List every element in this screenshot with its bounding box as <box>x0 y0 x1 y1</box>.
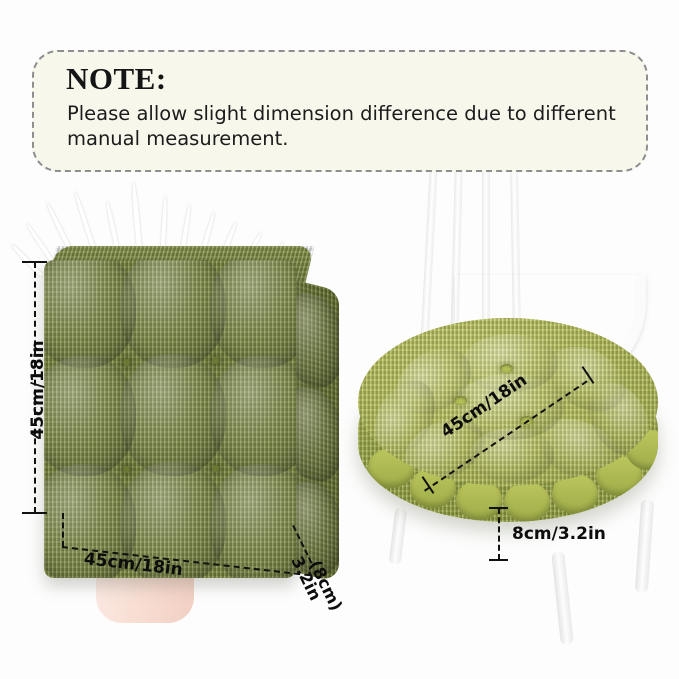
square-cushion <box>44 246 336 594</box>
note-callout-box: NOTE: Please allow slight dimension diff… <box>32 50 648 172</box>
note-body-text: Please allow slight dimension difference… <box>67 101 627 151</box>
square-cushion-face <box>44 260 296 578</box>
product-dimension-infographic: 45cm/18in 45cm/18in 3.2in (8cm) 45cm/18i… <box>0 0 679 679</box>
round-thickness-label: 8cm/3.2in <box>512 524 606 544</box>
square-height-label: 45cm/18in <box>28 330 48 450</box>
note-title: NOTE: <box>66 61 167 97</box>
round-cushion <box>352 312 664 548</box>
